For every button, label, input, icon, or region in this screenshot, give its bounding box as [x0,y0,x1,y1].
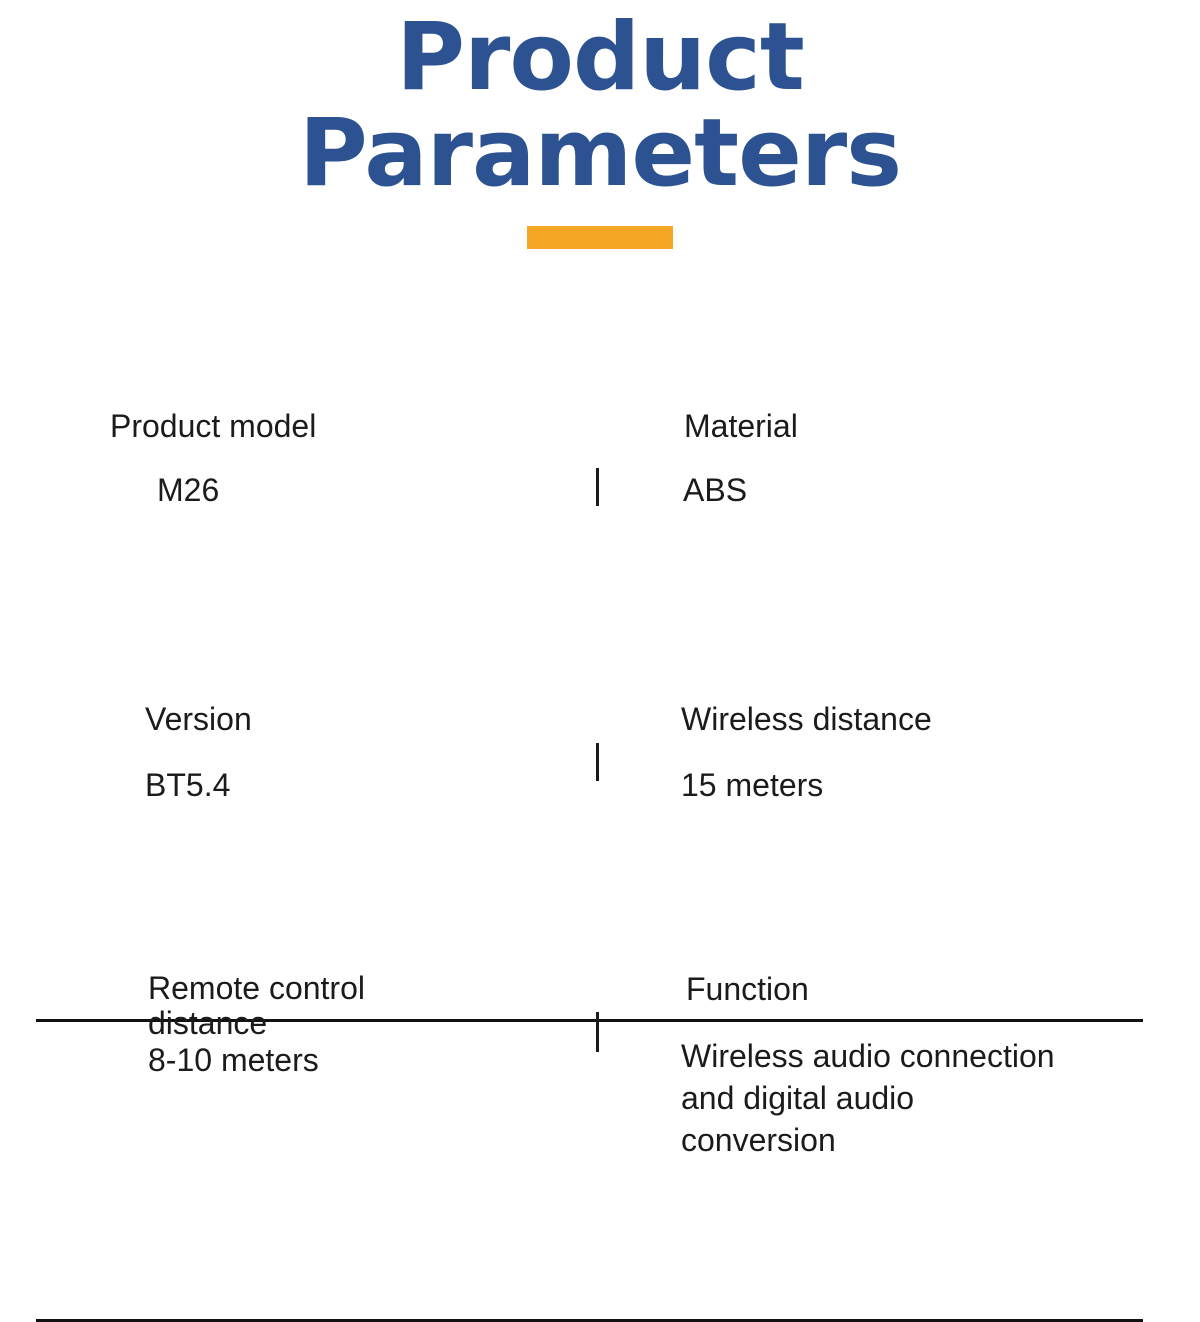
column-divider [596,743,599,781]
spec-cell-right: Material ABS [598,408,1200,510]
spec-cell-left: Version BT5.4 [0,701,598,805]
spec-label: Material [684,408,1200,446]
spec-cell-left: Product model M26 [0,408,598,510]
spec-cell-right: Function Wireless audio connection and d… [598,971,1200,1161]
column-divider [596,1012,599,1052]
spec-value: 15 meters [681,767,1200,805]
spec-value: 8-10 meters [148,1042,598,1080]
spec-value: M26 [157,472,598,510]
spec-label: Product model [110,408,598,446]
spec-value: Wireless audio connection and digital au… [681,1035,1200,1162]
spec-cell-left: Remote control distance 8-10 meters [0,971,598,1080]
page-title: Product Parameters [0,10,1200,202]
page-header: Product Parameters [0,0,1200,249]
spec-value: ABS [683,472,1200,510]
spec-value: BT5.4 [145,767,598,805]
spec-label: Wireless distance [681,701,1200,739]
table-row: Remote control distance 8-10 meters Func… [0,971,1200,1161]
spec-cell-right: Wireless distance 15 meters [598,701,1200,805]
table-row: Version BT5.4 Wireless distance 15 meter… [0,701,1200,805]
title-accent-bar [527,226,673,249]
spec-label: Version [145,701,598,739]
spec-label: Function [686,971,1200,1009]
spec-label: Remote control distance [148,971,598,1040]
column-divider [596,468,599,506]
table-row: Product model M26 Material ABS [0,408,1200,510]
